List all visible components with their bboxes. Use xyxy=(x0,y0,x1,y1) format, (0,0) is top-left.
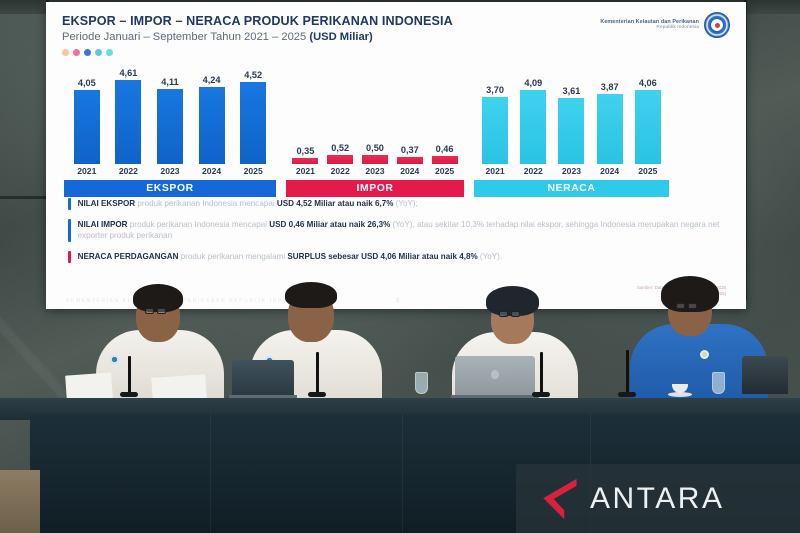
chart-plot-ekspor: 4,054,614,114,244,52 xyxy=(64,60,276,164)
slide-footer: KEMENTERIAN KELAUTAN DAN PERIKANAN REPUB… xyxy=(66,298,312,304)
bar-column: 3,61 xyxy=(558,60,584,164)
microphone-base-3 xyxy=(532,392,550,397)
chart-xaxis-impor: 20212022202320242025 xyxy=(286,166,464,176)
bullet-accent-bar xyxy=(68,198,71,210)
x-tick-label: 2025 xyxy=(428,166,462,176)
bar-column: 4,52 xyxy=(240,60,266,164)
x-tick-label: 2021 xyxy=(288,166,322,176)
panelist-3-glasses-icon xyxy=(499,311,520,317)
bar-value-label: 4,06 xyxy=(639,78,657,88)
apple-logo-icon xyxy=(491,370,499,379)
bar-column: 4,09 xyxy=(520,60,546,164)
bar xyxy=(558,98,584,164)
x-tick-label: 2022 xyxy=(111,166,145,176)
bar-value-label: 0,35 xyxy=(296,146,314,156)
microphone-3 xyxy=(540,352,543,396)
bar-column: 4,05 xyxy=(74,60,100,164)
bar-column: 0,35 xyxy=(292,60,318,164)
bar xyxy=(74,90,100,164)
antara-brand-text: ANTARA xyxy=(590,482,724,516)
bar-value-label: 4,09 xyxy=(524,78,542,88)
bar xyxy=(397,157,423,164)
microphone-base-2 xyxy=(308,392,326,397)
x-tick-label: 2025 xyxy=(631,166,665,176)
bullet-item: NILAI EKSPOR produk perikanan Indonesia … xyxy=(68,198,728,210)
bar-column: 0,37 xyxy=(397,60,423,164)
bar xyxy=(597,94,623,164)
bullet-accent-bar xyxy=(68,219,71,242)
chart-plot-impor: 0,350,520,500,370,46 xyxy=(286,60,464,164)
decorative-dot-2 xyxy=(73,49,80,56)
bar-column: 4,24 xyxy=(199,60,225,164)
decorative-dots xyxy=(62,49,730,56)
chart-panel-impor: 0,350,520,500,370,46 2021202220232024202… xyxy=(286,60,464,188)
microphone-base-1 xyxy=(120,392,138,397)
ministry-logo-block: Kementerian Kelautan dan Perikanan Repub… xyxy=(600,12,730,38)
projected-slide: EKSPOR – IMPOR – NERACA PRODUK PERIKANAN… xyxy=(46,2,746,309)
bar-value-label: 0,52 xyxy=(331,143,349,153)
wall-seam xyxy=(0,196,48,199)
chart-label-impor: IMPOR xyxy=(286,180,464,197)
panelist-2-hair xyxy=(285,282,337,308)
bullet-text: NERACA PERDAGANGAN produk perikanan meng… xyxy=(78,251,503,263)
bullet-list: NILAI EKSPOR produk perikanan Indonesia … xyxy=(68,198,728,272)
press-conference-photo: EKSPOR – IMPOR – NERACA PRODUK PERIKANAN… xyxy=(0,0,800,533)
drinking-glass-2 xyxy=(712,372,725,394)
bar xyxy=(157,89,183,164)
x-tick-label: 2022 xyxy=(323,166,357,176)
charts-row: 4,054,614,114,244,52 2021202220232024202… xyxy=(64,60,730,188)
bar xyxy=(635,90,661,164)
bar-value-label: 3,61 xyxy=(563,86,581,96)
bar-value-label: 0,37 xyxy=(401,145,419,155)
bar-value-label: 4,05 xyxy=(78,78,96,88)
bar-column: 4,06 xyxy=(635,60,661,164)
bullet-text: NILAI IMPOR produk perikanan Indonesia m… xyxy=(78,219,728,242)
bar xyxy=(292,158,318,164)
bar xyxy=(482,97,508,164)
decorative-dot-5 xyxy=(106,49,113,56)
chart-xaxis-neraca: 20212022202320242025 xyxy=(474,166,669,176)
bullet-item: NERACA PERDAGANGAN produk perikanan meng… xyxy=(68,251,728,263)
antara-watermark: ANTARA xyxy=(516,464,800,533)
laptop-2 xyxy=(232,360,294,400)
bullet-accent-bar xyxy=(68,251,71,263)
bar-value-label: 4,11 xyxy=(161,77,178,87)
chart-panel-ekspor: 4,054,614,114,244,52 2021202220232024202… xyxy=(64,60,276,188)
bar xyxy=(327,155,353,164)
bar-value-label: 3,87 xyxy=(601,82,619,92)
panelist-4-glasses-icon xyxy=(676,303,697,309)
bar-value-label: 4,61 xyxy=(119,68,137,78)
microphone-2 xyxy=(316,352,319,396)
bar xyxy=(520,90,546,164)
floor xyxy=(0,470,40,533)
ministry-country: Republik Indonesia xyxy=(600,25,699,31)
bar xyxy=(432,156,458,164)
x-tick-label: 2025 xyxy=(236,166,270,176)
chart-panel-neraca: 3,704,093,613,874,06 2021202220232024202… xyxy=(474,60,669,188)
x-tick-label: 2021 xyxy=(478,166,512,176)
chart-label-neraca: NERACA xyxy=(474,180,669,197)
bar-column: 0,50 xyxy=(362,60,388,164)
chart-label-ekspor: EKSPOR xyxy=(64,180,276,197)
bar xyxy=(115,80,141,164)
bar xyxy=(240,82,266,164)
ministry-emblem-icon xyxy=(704,12,730,38)
antara-logo-icon xyxy=(538,477,580,521)
tablet-right xyxy=(742,356,788,398)
chart-plot-neraca: 3,704,093,613,874,06 xyxy=(474,60,669,164)
slide-subtitle-period: Periode Januari – September Tahun 2021 –… xyxy=(62,31,309,43)
slide-page-number: 3 xyxy=(396,298,399,304)
microphone-base-4 xyxy=(618,392,636,397)
panelist-1-badge xyxy=(110,355,119,364)
x-tick-label: 2023 xyxy=(554,166,588,176)
decorative-dot-1 xyxy=(62,49,69,56)
bar-column: 4,11 xyxy=(157,60,183,164)
bar-column: 3,70 xyxy=(482,60,508,164)
x-tick-label: 2023 xyxy=(153,166,187,176)
bar-column: 0,46 xyxy=(432,60,458,164)
bar-value-label: 4,52 xyxy=(244,70,262,80)
bar-column: 0,52 xyxy=(327,60,353,164)
x-tick-label: 2024 xyxy=(393,166,427,176)
drinking-glass-1 xyxy=(415,372,428,394)
microphone-4 xyxy=(626,350,629,396)
bar-column: 3,87 xyxy=(597,60,623,164)
chart-xaxis-ekspor: 20212022202320242025 xyxy=(64,166,276,176)
ministry-text: Kementerian Kelautan dan Perikanan Repub… xyxy=(600,19,699,32)
x-tick-label: 2023 xyxy=(358,166,392,176)
panelist-4-badge xyxy=(700,350,709,359)
x-tick-label: 2024 xyxy=(593,166,627,176)
x-tick-label: 2024 xyxy=(195,166,229,176)
slide-subtitle-unit: (USD Miliar) xyxy=(309,31,372,43)
decorative-dot-4 xyxy=(95,49,102,56)
bar xyxy=(199,87,225,164)
panelist-1-glasses-icon xyxy=(145,308,166,314)
bar-column: 4,61 xyxy=(115,60,141,164)
x-tick-label: 2022 xyxy=(516,166,550,176)
x-tick-label: 2021 xyxy=(70,166,104,176)
bar-value-label: 0,50 xyxy=(366,143,384,153)
bar xyxy=(362,155,388,164)
decorative-dot-3 xyxy=(84,49,91,56)
bar-value-label: 3,70 xyxy=(486,85,504,95)
bullet-item: NILAI IMPOR produk perikanan Indonesia m… xyxy=(68,219,728,242)
microphone-1 xyxy=(128,356,131,396)
bar-value-label: 4,24 xyxy=(203,75,221,85)
macbook-laptop xyxy=(455,356,535,400)
bar-value-label: 0,46 xyxy=(436,144,454,154)
bullet-text: NILAI EKSPOR produk perikanan Indonesia … xyxy=(78,198,418,210)
